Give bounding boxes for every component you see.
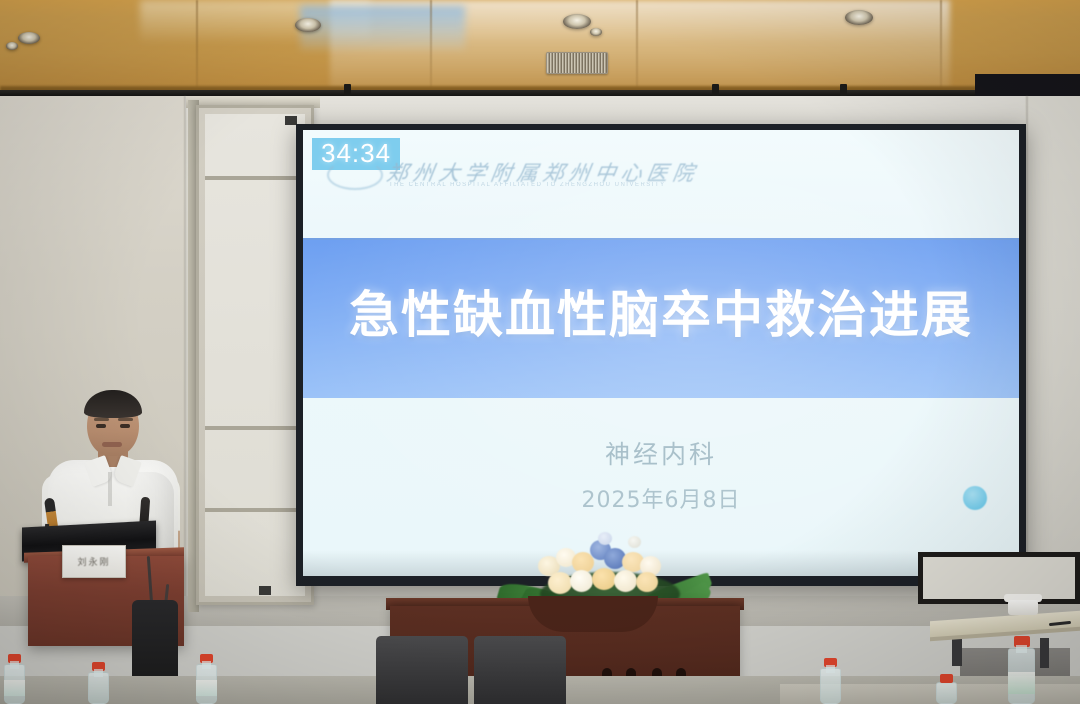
ceiling-downlight-icon bbox=[295, 18, 321, 32]
bottle-label bbox=[196, 680, 217, 696]
bottle-cap bbox=[940, 674, 953, 683]
wall-seam bbox=[184, 96, 186, 616]
bottle-neck bbox=[10, 661, 19, 669]
bottle-neck bbox=[1016, 645, 1027, 653]
projection-screen-frame: 34:34 郑州大学附属郑州中心医院 THE CENTRAL HOSPITAL … bbox=[296, 124, 1026, 586]
slide-department: 神经内科 bbox=[303, 435, 1019, 471]
presenter-hair bbox=[84, 390, 142, 418]
wall-seam bbox=[1026, 96, 1028, 616]
flower-bud bbox=[628, 536, 641, 548]
ceiling-seam bbox=[940, 0, 942, 96]
presenter-eye bbox=[96, 424, 106, 428]
smoke-detector-icon bbox=[6, 42, 18, 50]
presenter-eye bbox=[120, 424, 130, 428]
water-bottle bbox=[820, 668, 841, 704]
ceiling-seam bbox=[636, 0, 638, 96]
podium-name-card-text: 刘永刚 bbox=[77, 555, 110, 568]
side-table-leg bbox=[1040, 638, 1049, 668]
wall-picture-frame bbox=[918, 552, 1080, 604]
rail-mount bbox=[344, 84, 351, 96]
panel-divider bbox=[205, 508, 305, 512]
ceiling-downlight-icon bbox=[563, 14, 591, 29]
presentation-photo-scene: 34:34 郑州大学附属郑州中心医院 THE CENTRAL HOSPITAL … bbox=[0, 0, 1080, 704]
ceiling-blue-reflection bbox=[300, 6, 465, 50]
panel-divider bbox=[205, 426, 305, 430]
ceiling-air-vent bbox=[546, 52, 608, 74]
water-bottle bbox=[936, 682, 957, 704]
slide-main-title: 急性缺血性脑卒中救治进展 bbox=[303, 275, 1019, 347]
chair-back bbox=[474, 636, 566, 704]
right-wall bbox=[1025, 96, 1080, 616]
ceiling-seam bbox=[196, 0, 198, 96]
slide-decorative-dot bbox=[963, 486, 987, 510]
presenter-shirt-placket bbox=[108, 472, 112, 506]
bottle-neck bbox=[202, 661, 211, 669]
rail-mount bbox=[712, 84, 719, 96]
ceiling-downlight-icon bbox=[845, 10, 873, 25]
ceiling-downlight-icon bbox=[18, 32, 40, 44]
ceiling-seam bbox=[430, 0, 432, 96]
presenter-brow bbox=[94, 418, 109, 421]
panel-surface bbox=[205, 114, 305, 596]
flower-bloom bbox=[614, 570, 637, 592]
hospital-name-english: THE CENTRAL HOSPITAL AFFILIATED TO ZHENG… bbox=[389, 182, 666, 188]
hospital-seal-icon bbox=[327, 160, 383, 190]
bottle-label bbox=[1008, 672, 1035, 694]
head-table-arch bbox=[528, 596, 658, 632]
podium-name-card: 刘永刚 bbox=[62, 545, 126, 578]
bottle-label bbox=[4, 680, 25, 696]
bottle-neck bbox=[826, 665, 835, 673]
projection-screen: 34:34 郑州大学附属郑州中心医院 THE CENTRAL HOSPITAL … bbox=[303, 130, 1019, 576]
slide-header: 34:34 郑州大学附属郑州中心医院 THE CENTRAL HOSPITAL … bbox=[303, 130, 1019, 192]
smoke-detector-icon bbox=[590, 28, 602, 36]
slide-band-topline bbox=[303, 238, 1019, 240]
ceiling bbox=[0, 0, 1080, 96]
panel-divider bbox=[205, 176, 305, 180]
rail-mount bbox=[840, 84, 847, 96]
slide-date: 2025年6月8日 bbox=[303, 482, 1019, 514]
screen-bottom-shadow bbox=[303, 550, 1019, 576]
flower-bloom bbox=[570, 570, 593, 592]
presenter-brow bbox=[118, 418, 133, 421]
flower-bud bbox=[598, 532, 612, 545]
flower-bloom bbox=[592, 568, 616, 590]
panel-clip-icon bbox=[259, 586, 271, 595]
bottle-neck bbox=[94, 669, 103, 677]
paper-cup bbox=[1008, 600, 1038, 615]
presentation-slide: 34:34 郑州大学附属郑州中心医院 THE CENTRAL HOSPITAL … bbox=[303, 130, 1019, 576]
chair-back bbox=[376, 636, 468, 704]
flower-bloom bbox=[548, 572, 572, 594]
flower-bloom bbox=[636, 572, 658, 592]
presenter-mouth bbox=[102, 442, 122, 447]
